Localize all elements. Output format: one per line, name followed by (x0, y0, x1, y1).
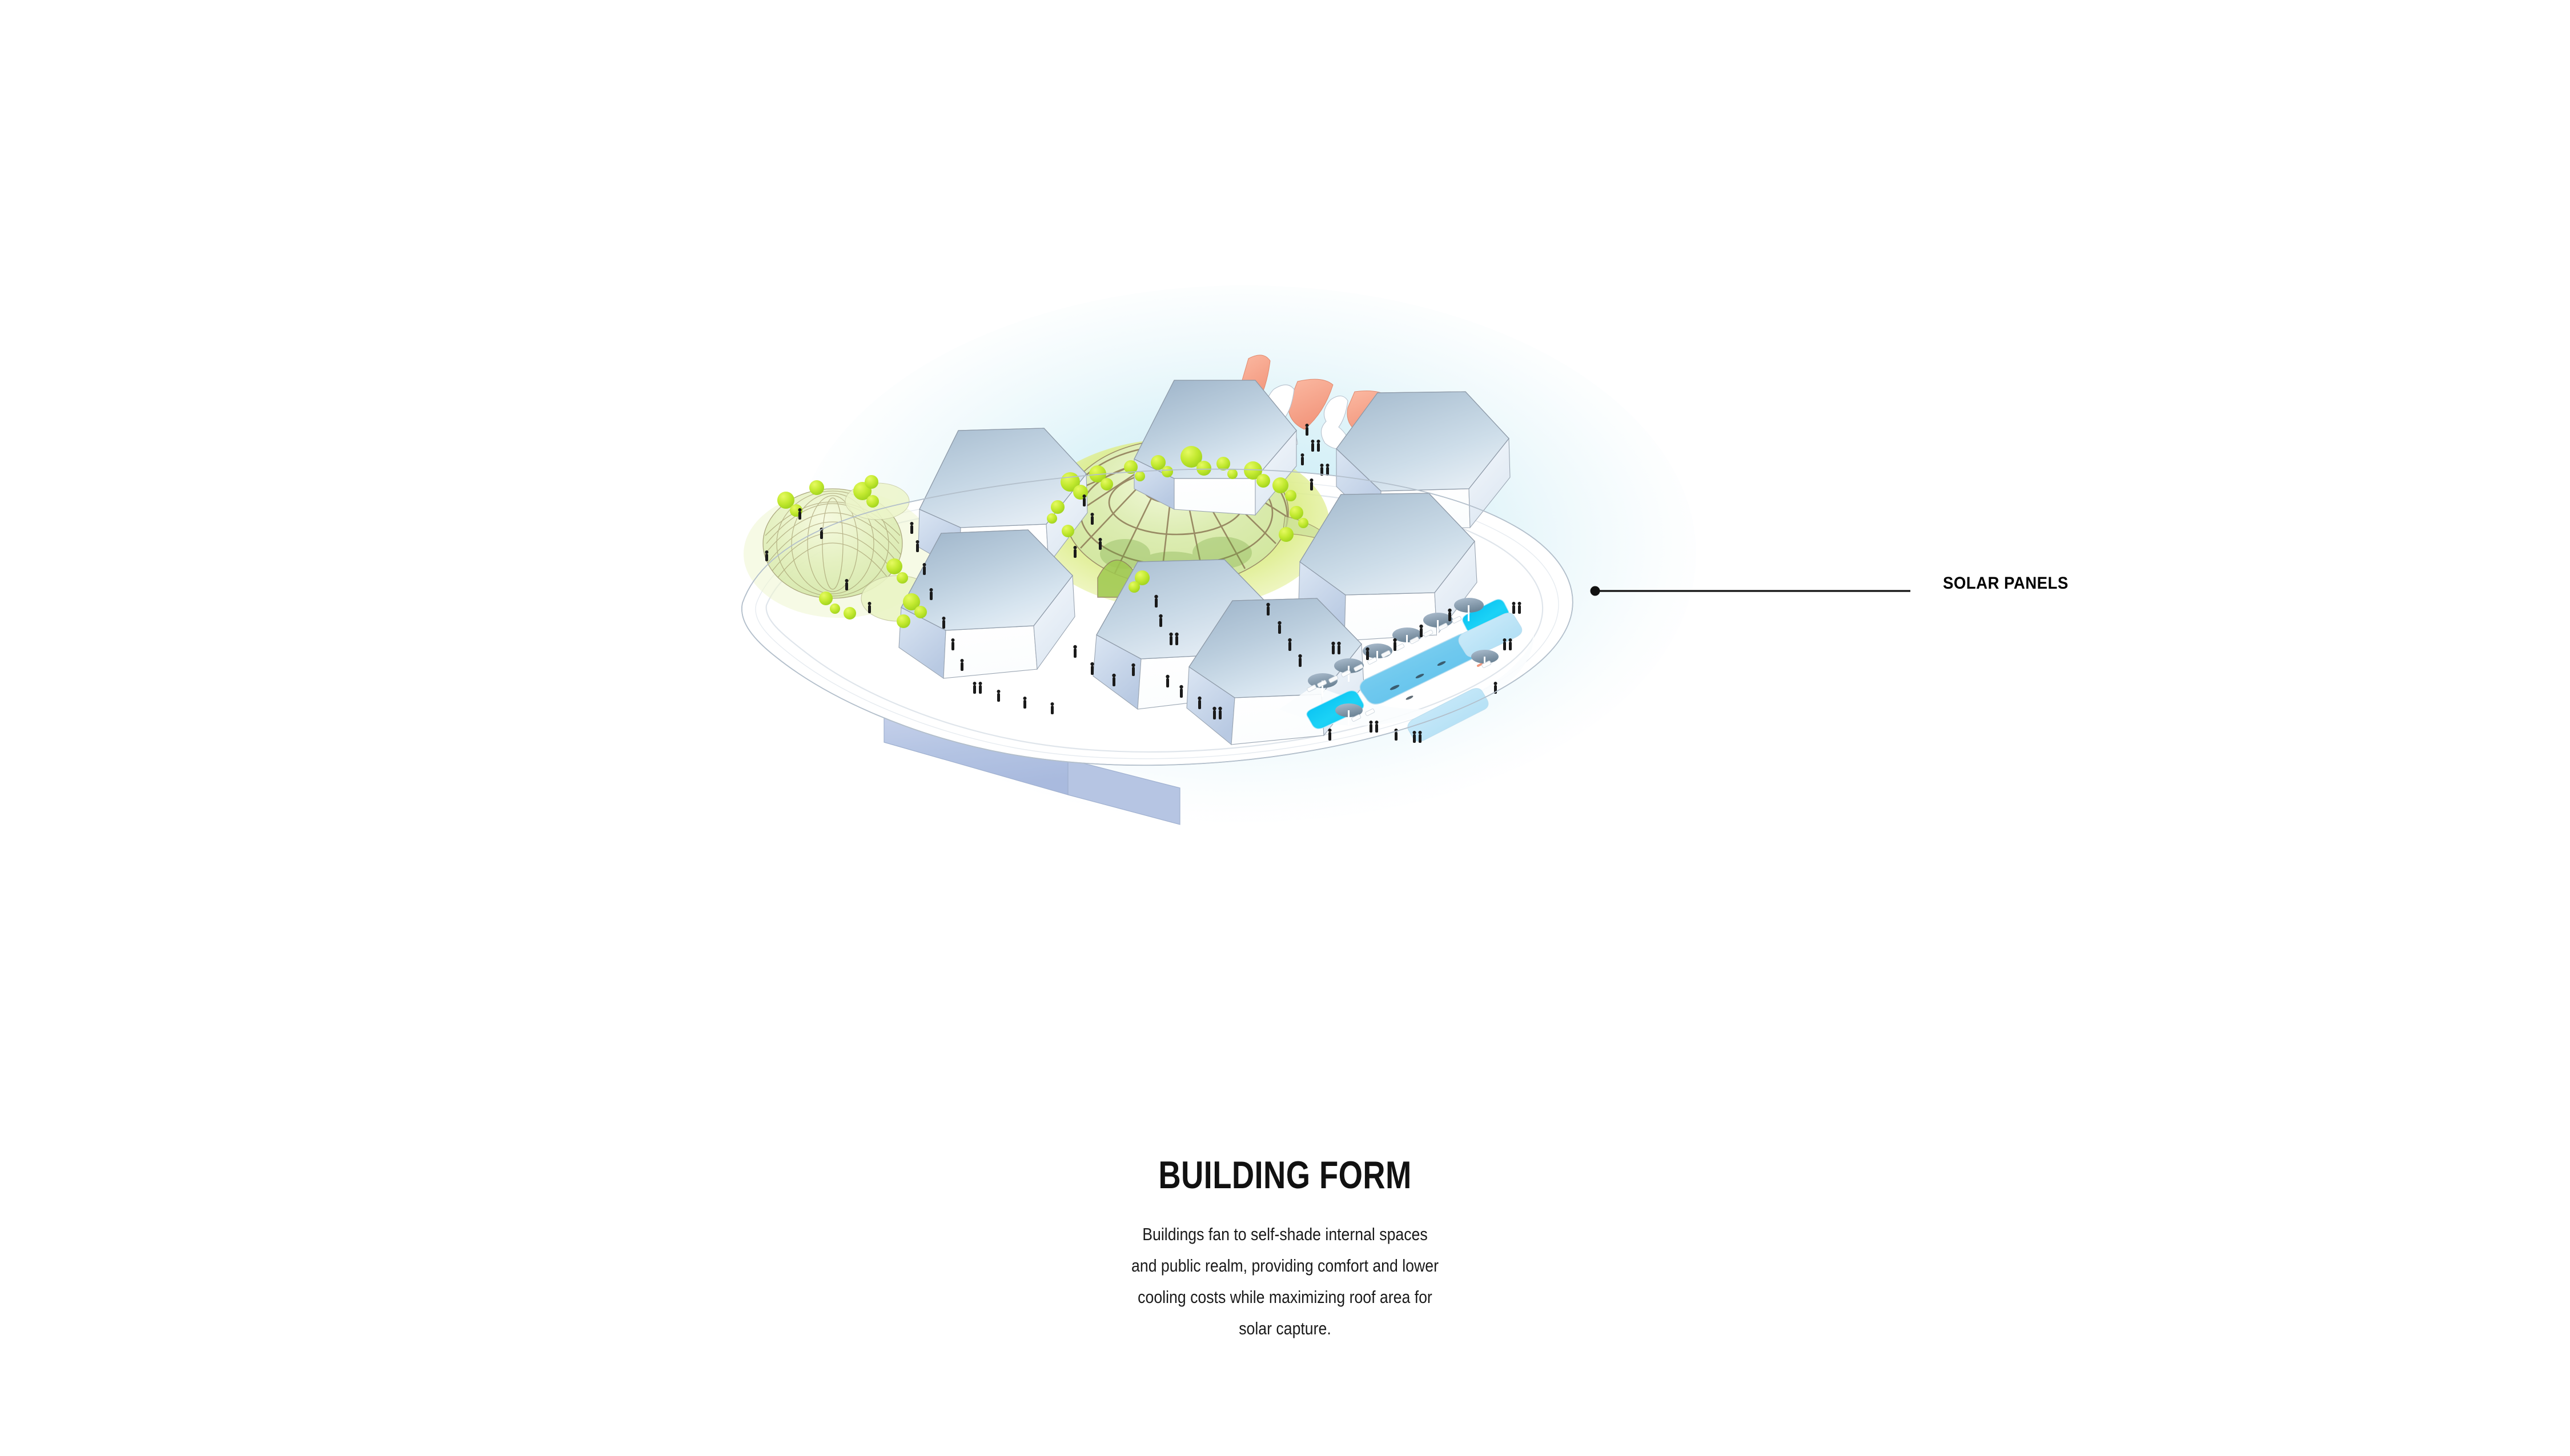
diagram-description: Buildings fan to self-shade internal spa… (1128, 1218, 1442, 1344)
page-title: BUILDING FORM (949, 1153, 1621, 1197)
page-root: SOLAR PANELS BUILDING FORM Buildings fan… (0, 0, 2570, 1456)
building-massing-diagram (674, 285, 1850, 925)
massing-illustration (674, 285, 1850, 925)
caption-block: BUILDING FORM Buildings fan to self-shad… (865, 1153, 1705, 1344)
callout-label-solar-panels: SOLAR PANELS (1943, 574, 2069, 593)
